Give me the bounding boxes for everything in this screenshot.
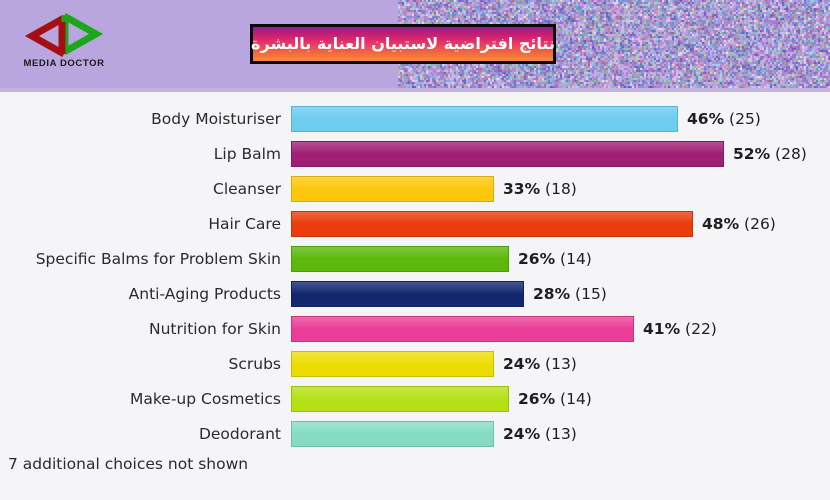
- bar-count: (28): [770, 145, 807, 163]
- bar-count: (26): [739, 215, 776, 233]
- bar: [291, 106, 678, 132]
- brand-logo-text: MEDIA DOCTOR: [14, 58, 114, 69]
- bar-percent: 26%: [518, 390, 555, 408]
- bar: [291, 316, 634, 342]
- chart-row: Hair Care48% (26): [0, 211, 830, 237]
- bar: [291, 386, 509, 412]
- brand-logo[interactable]: MEDIA DOCTOR: [14, 12, 114, 80]
- category-label: Specific Balms for Problem Skin: [0, 246, 281, 272]
- bar-gloss: [292, 247, 508, 259]
- bar-count: (13): [540, 355, 577, 373]
- category-label: Deodorant: [0, 421, 281, 447]
- chart-row: Deodorant24% (13): [0, 421, 830, 447]
- bar-value-label: 48% (26): [702, 211, 776, 237]
- bar-value-label: 26% (14): [518, 386, 592, 412]
- bar-percent: 46%: [687, 110, 724, 128]
- category-label: Scrubs: [0, 351, 281, 377]
- category-label: Cleanser: [0, 176, 281, 202]
- category-label: Make-up Cosmetics: [0, 386, 281, 412]
- category-label: Anti-Aging Products: [0, 281, 281, 307]
- category-label: Body Moisturiser: [0, 106, 281, 132]
- bar-value-label: 28% (15): [533, 281, 607, 307]
- bar-count: (14): [555, 250, 592, 268]
- bar-value-label: 33% (18): [503, 176, 577, 202]
- bar-count: (25): [724, 110, 761, 128]
- slide-root: MEDIA DOCTOR نتائج افتراضية لاستبيان الع…: [0, 0, 830, 500]
- bar-gloss: [292, 422, 493, 434]
- bar-value-label: 52% (28): [733, 141, 807, 167]
- bar-gloss: [292, 317, 633, 329]
- bar-gloss: [292, 352, 493, 364]
- horizontal-bar-chart: Body Moisturiser46% (25)Lip Balm52% (28)…: [0, 92, 830, 500]
- bar-count: (15): [570, 285, 607, 303]
- bar-value-label: 24% (13): [503, 421, 577, 447]
- bar-gloss: [292, 282, 523, 294]
- bar-percent: 24%: [503, 355, 540, 373]
- bar-value-label: 46% (25): [687, 106, 761, 132]
- bar-value-label: 24% (13): [503, 351, 577, 377]
- bar: [291, 246, 509, 272]
- bar: [291, 176, 494, 202]
- media-doctor-mark-icon: [22, 12, 108, 58]
- bar-gloss: [292, 107, 677, 119]
- bar-percent: 26%: [518, 250, 555, 268]
- bar-value-label: 41% (22): [643, 316, 717, 342]
- bar: [291, 141, 724, 167]
- bar-count: (13): [540, 425, 577, 443]
- chart-row: Make-up Cosmetics26% (14): [0, 386, 830, 412]
- bar-count: (18): [540, 180, 577, 198]
- chart-row: Scrubs24% (13): [0, 351, 830, 377]
- bar-percent: 28%: [533, 285, 570, 303]
- chart-row: Nutrition for Skin41% (22): [0, 316, 830, 342]
- page-title: نتائج افتراضية لاستبيان العناية بالبشرة: [251, 36, 555, 53]
- bar-gloss: [292, 387, 508, 399]
- chart-row: Cleanser33% (18): [0, 176, 830, 202]
- bar-count: (22): [680, 320, 717, 338]
- bar-percent: 33%: [503, 180, 540, 198]
- header-bar: MEDIA DOCTOR نتائج افتراضية لاستبيان الع…: [0, 0, 830, 92]
- bar-percent: 48%: [702, 215, 739, 233]
- bar-count: (14): [555, 390, 592, 408]
- bar: [291, 281, 524, 307]
- chart-row: Anti-Aging Products28% (15): [0, 281, 830, 307]
- bar-percent: 24%: [503, 425, 540, 443]
- category-label: Nutrition for Skin: [0, 316, 281, 342]
- bar-gloss: [292, 177, 493, 189]
- chart-row: Lip Balm52% (28): [0, 141, 830, 167]
- bar: [291, 421, 494, 447]
- category-label: Lip Balm: [0, 141, 281, 167]
- bar-gloss: [292, 142, 723, 154]
- bar-gloss: [292, 212, 692, 224]
- bar-percent: 41%: [643, 320, 680, 338]
- category-label: Hair Care: [0, 211, 281, 237]
- bar-value-label: 26% (14): [518, 246, 592, 272]
- title-banner: نتائج افتراضية لاستبيان العناية بالبشرة: [250, 24, 556, 64]
- bar: [291, 351, 494, 377]
- chart-row: Body Moisturiser46% (25): [0, 106, 830, 132]
- bar: [291, 211, 693, 237]
- chart-footnote: 7 additional choices not shown: [8, 455, 248, 473]
- chart-row: Specific Balms for Problem Skin26% (14): [0, 246, 830, 272]
- bar-percent: 52%: [733, 145, 770, 163]
